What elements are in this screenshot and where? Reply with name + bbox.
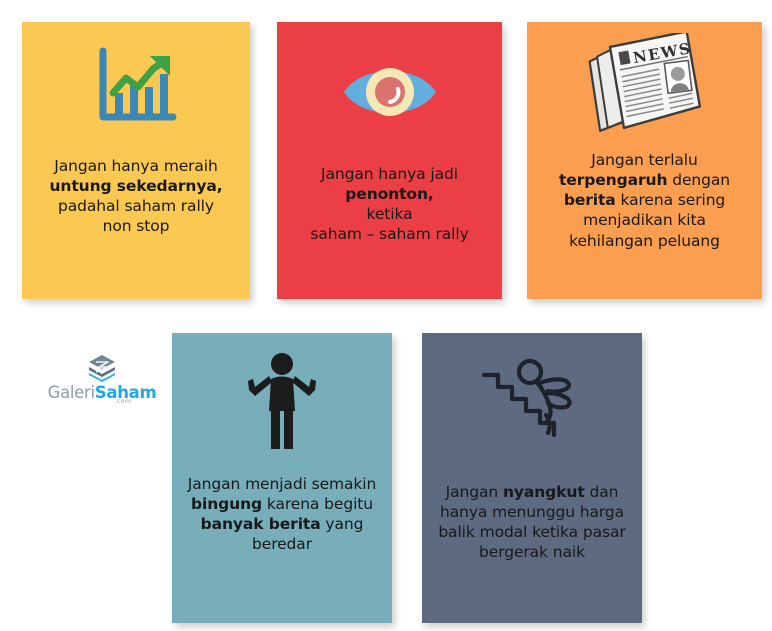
caption-line: terpengaruh dengan	[527, 170, 762, 190]
brand-name-part1: Galeri	[48, 383, 95, 402]
caption-line: padahal saham rally	[22, 196, 250, 216]
caption-line: ketika	[277, 204, 502, 224]
card-untung-sekedarnya: Jangan hanya meraih untung sekedarnya, p…	[22, 22, 250, 299]
card-3-caption: Jangan terlalu terpengaruh dengan berita…	[519, 150, 770, 251]
eye-icon	[277, 22, 502, 162]
caption-line: Jangan nyangkut dan	[422, 482, 642, 502]
caption-line: saham – saham rally	[277, 224, 502, 244]
caption-line: banyak berita yang	[172, 514, 392, 534]
caption-line: penonton,	[277, 184, 502, 204]
card-berita: NEWS	[527, 22, 762, 299]
card-penonton: Jangan hanya jadi penonton, ketika saham…	[277, 22, 502, 299]
bar-chart-growth-icon	[22, 22, 250, 150]
card-2-caption: Jangan hanya jadi penonton, ketika saham…	[265, 162, 514, 245]
caption-line: berita karena sering	[527, 190, 762, 210]
caption-line: bingung karena begitu	[172, 494, 392, 514]
caption-line: Jangan hanya jadi	[277, 164, 502, 184]
card-4-caption: Jangan menjadi semakin bingung karena be…	[166, 468, 398, 555]
person-falling-down-stairs-icon	[422, 333, 642, 468]
caption-line: kehilangan peluang	[527, 231, 762, 251]
infographic-canvas: Jangan hanya meraih untung sekedarnya, p…	[0, 0, 772, 631]
card-nyangkut: Jangan nyangkut dan hanya menunggu harga…	[422, 333, 642, 623]
caption-line: Jangan menjadi semakin	[172, 474, 392, 494]
caption-line: menjadikan kita	[527, 210, 762, 230]
caption-line: hanya menunggu harga	[422, 502, 642, 522]
brand-wordmark: GaleriSaham	[48, 383, 157, 402]
caption-line: non stop	[22, 216, 250, 236]
caption-line: beredar	[172, 534, 392, 554]
person-shrugging-icon	[172, 333, 392, 468]
card-1-caption: Jangan hanya meraih untung sekedarnya, p…	[10, 150, 262, 237]
card-5-caption: Jangan nyangkut dan hanya menunggu harga…	[412, 468, 652, 563]
stacked-layers-logo-icon	[87, 354, 117, 382]
caption-line: bergerak naik	[422, 542, 642, 562]
caption-line: untung sekedarnya,	[22, 176, 250, 196]
brand-suffix: .com	[114, 398, 131, 405]
caption-line: Jangan hanya meraih	[22, 156, 250, 176]
newspaper-icon: NEWS	[527, 22, 762, 150]
caption-line: Jangan terlalu	[527, 150, 762, 170]
card-bingung: Jangan menjadi semakin bingung karena be…	[172, 333, 392, 623]
caption-line: balik modal ketika pasar	[422, 522, 642, 542]
brand-logo[interactable]: GaleriSaham .com	[44, 354, 160, 406]
